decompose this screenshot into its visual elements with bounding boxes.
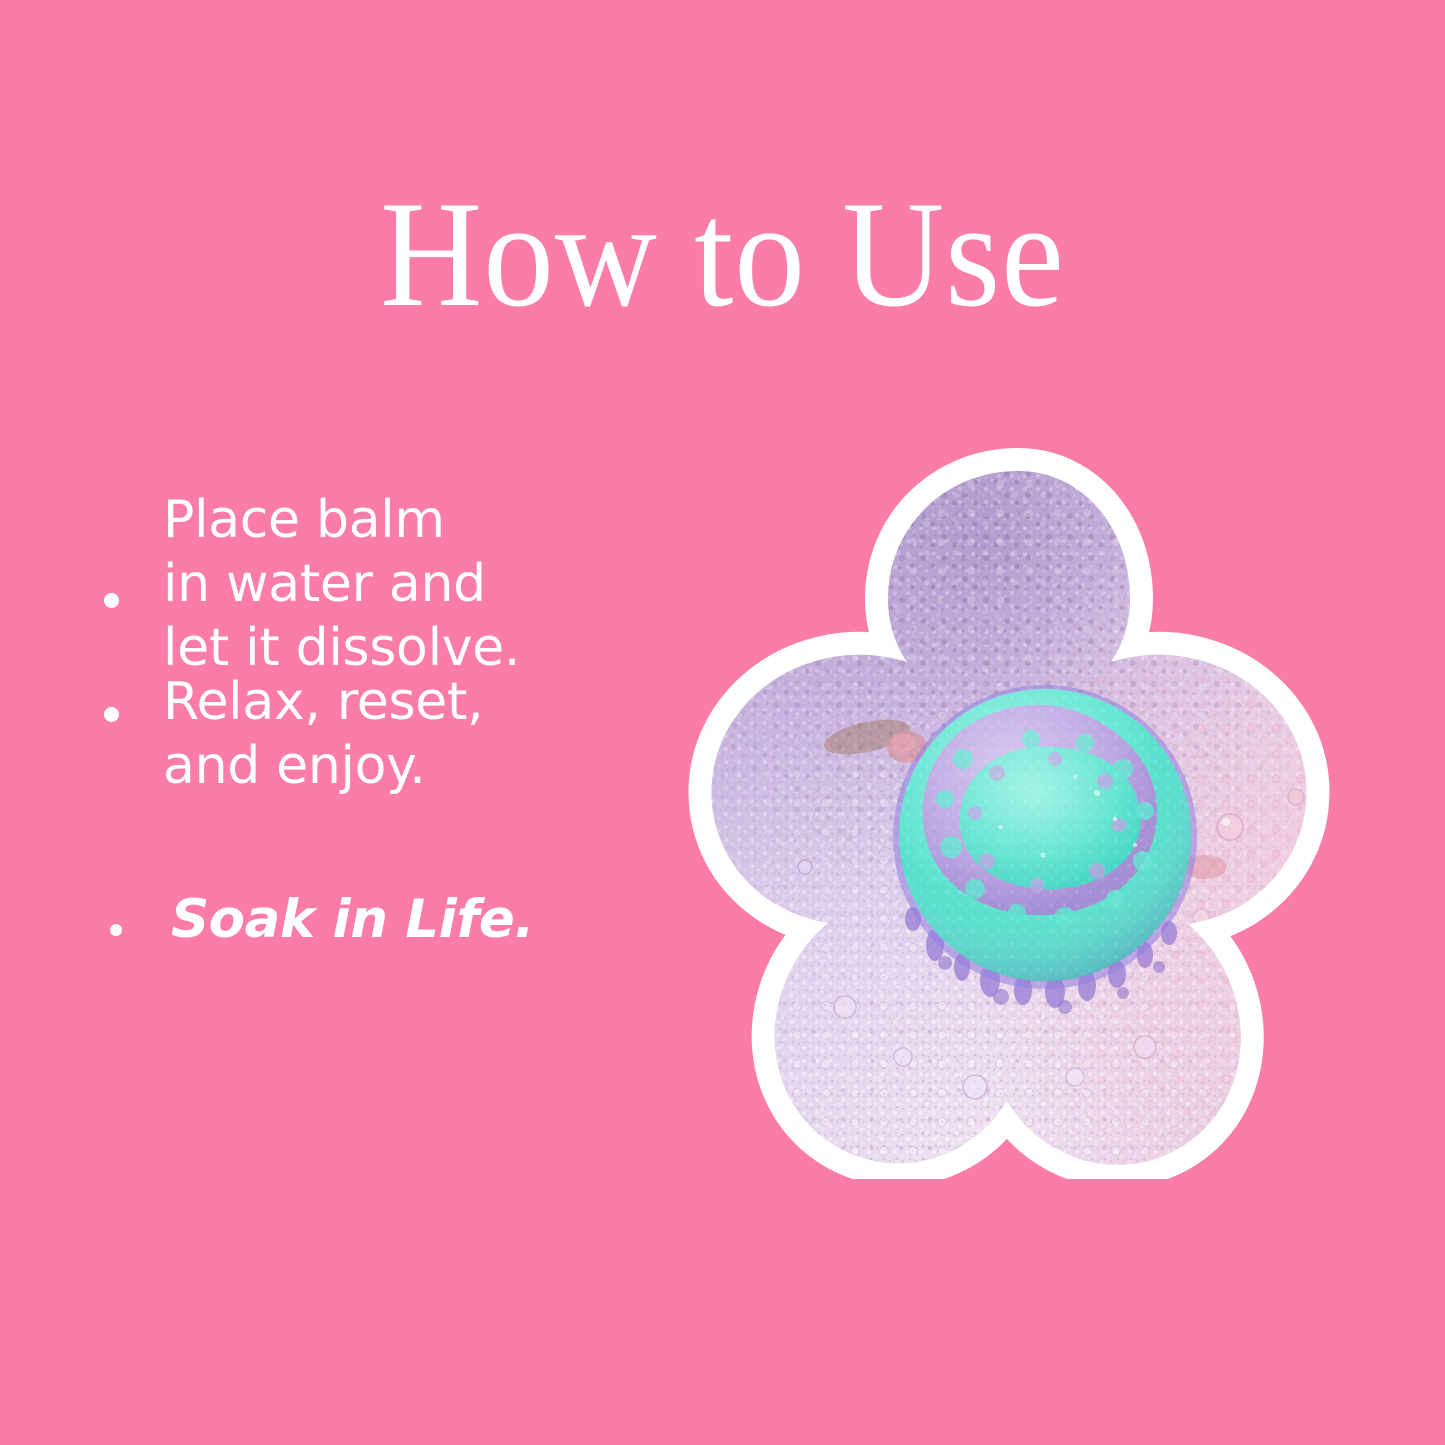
list-item: Place balm in water and let it dissolve.	[88, 488, 648, 688]
list-item-label: Place balm in water and let it dissolve.	[163, 488, 520, 680]
instructions-list: Place balm in water and let it dissolve.…	[88, 488, 648, 998]
page-title: How to Use	[51, 178, 1395, 330]
list-item: Soak in Life.	[88, 888, 648, 998]
list-item-label: Relax, reset, and enjoy.	[163, 670, 483, 798]
list-item: Relax, reset, and enjoy.	[88, 688, 648, 888]
bullet-dot-icon	[104, 707, 119, 722]
bullet-dot-icon	[104, 593, 119, 608]
flower-framed-bath-bomb-photo	[645, 447, 1391, 1179]
poster-canvas: How to Use Place balm in water and let i…	[0, 0, 1445, 1445]
bullet-dot-icon	[110, 924, 122, 936]
product-image	[645, 447, 1391, 1179]
list-item-label: Soak in Life.	[171, 888, 534, 952]
bath-bomb	[893, 685, 1197, 989]
